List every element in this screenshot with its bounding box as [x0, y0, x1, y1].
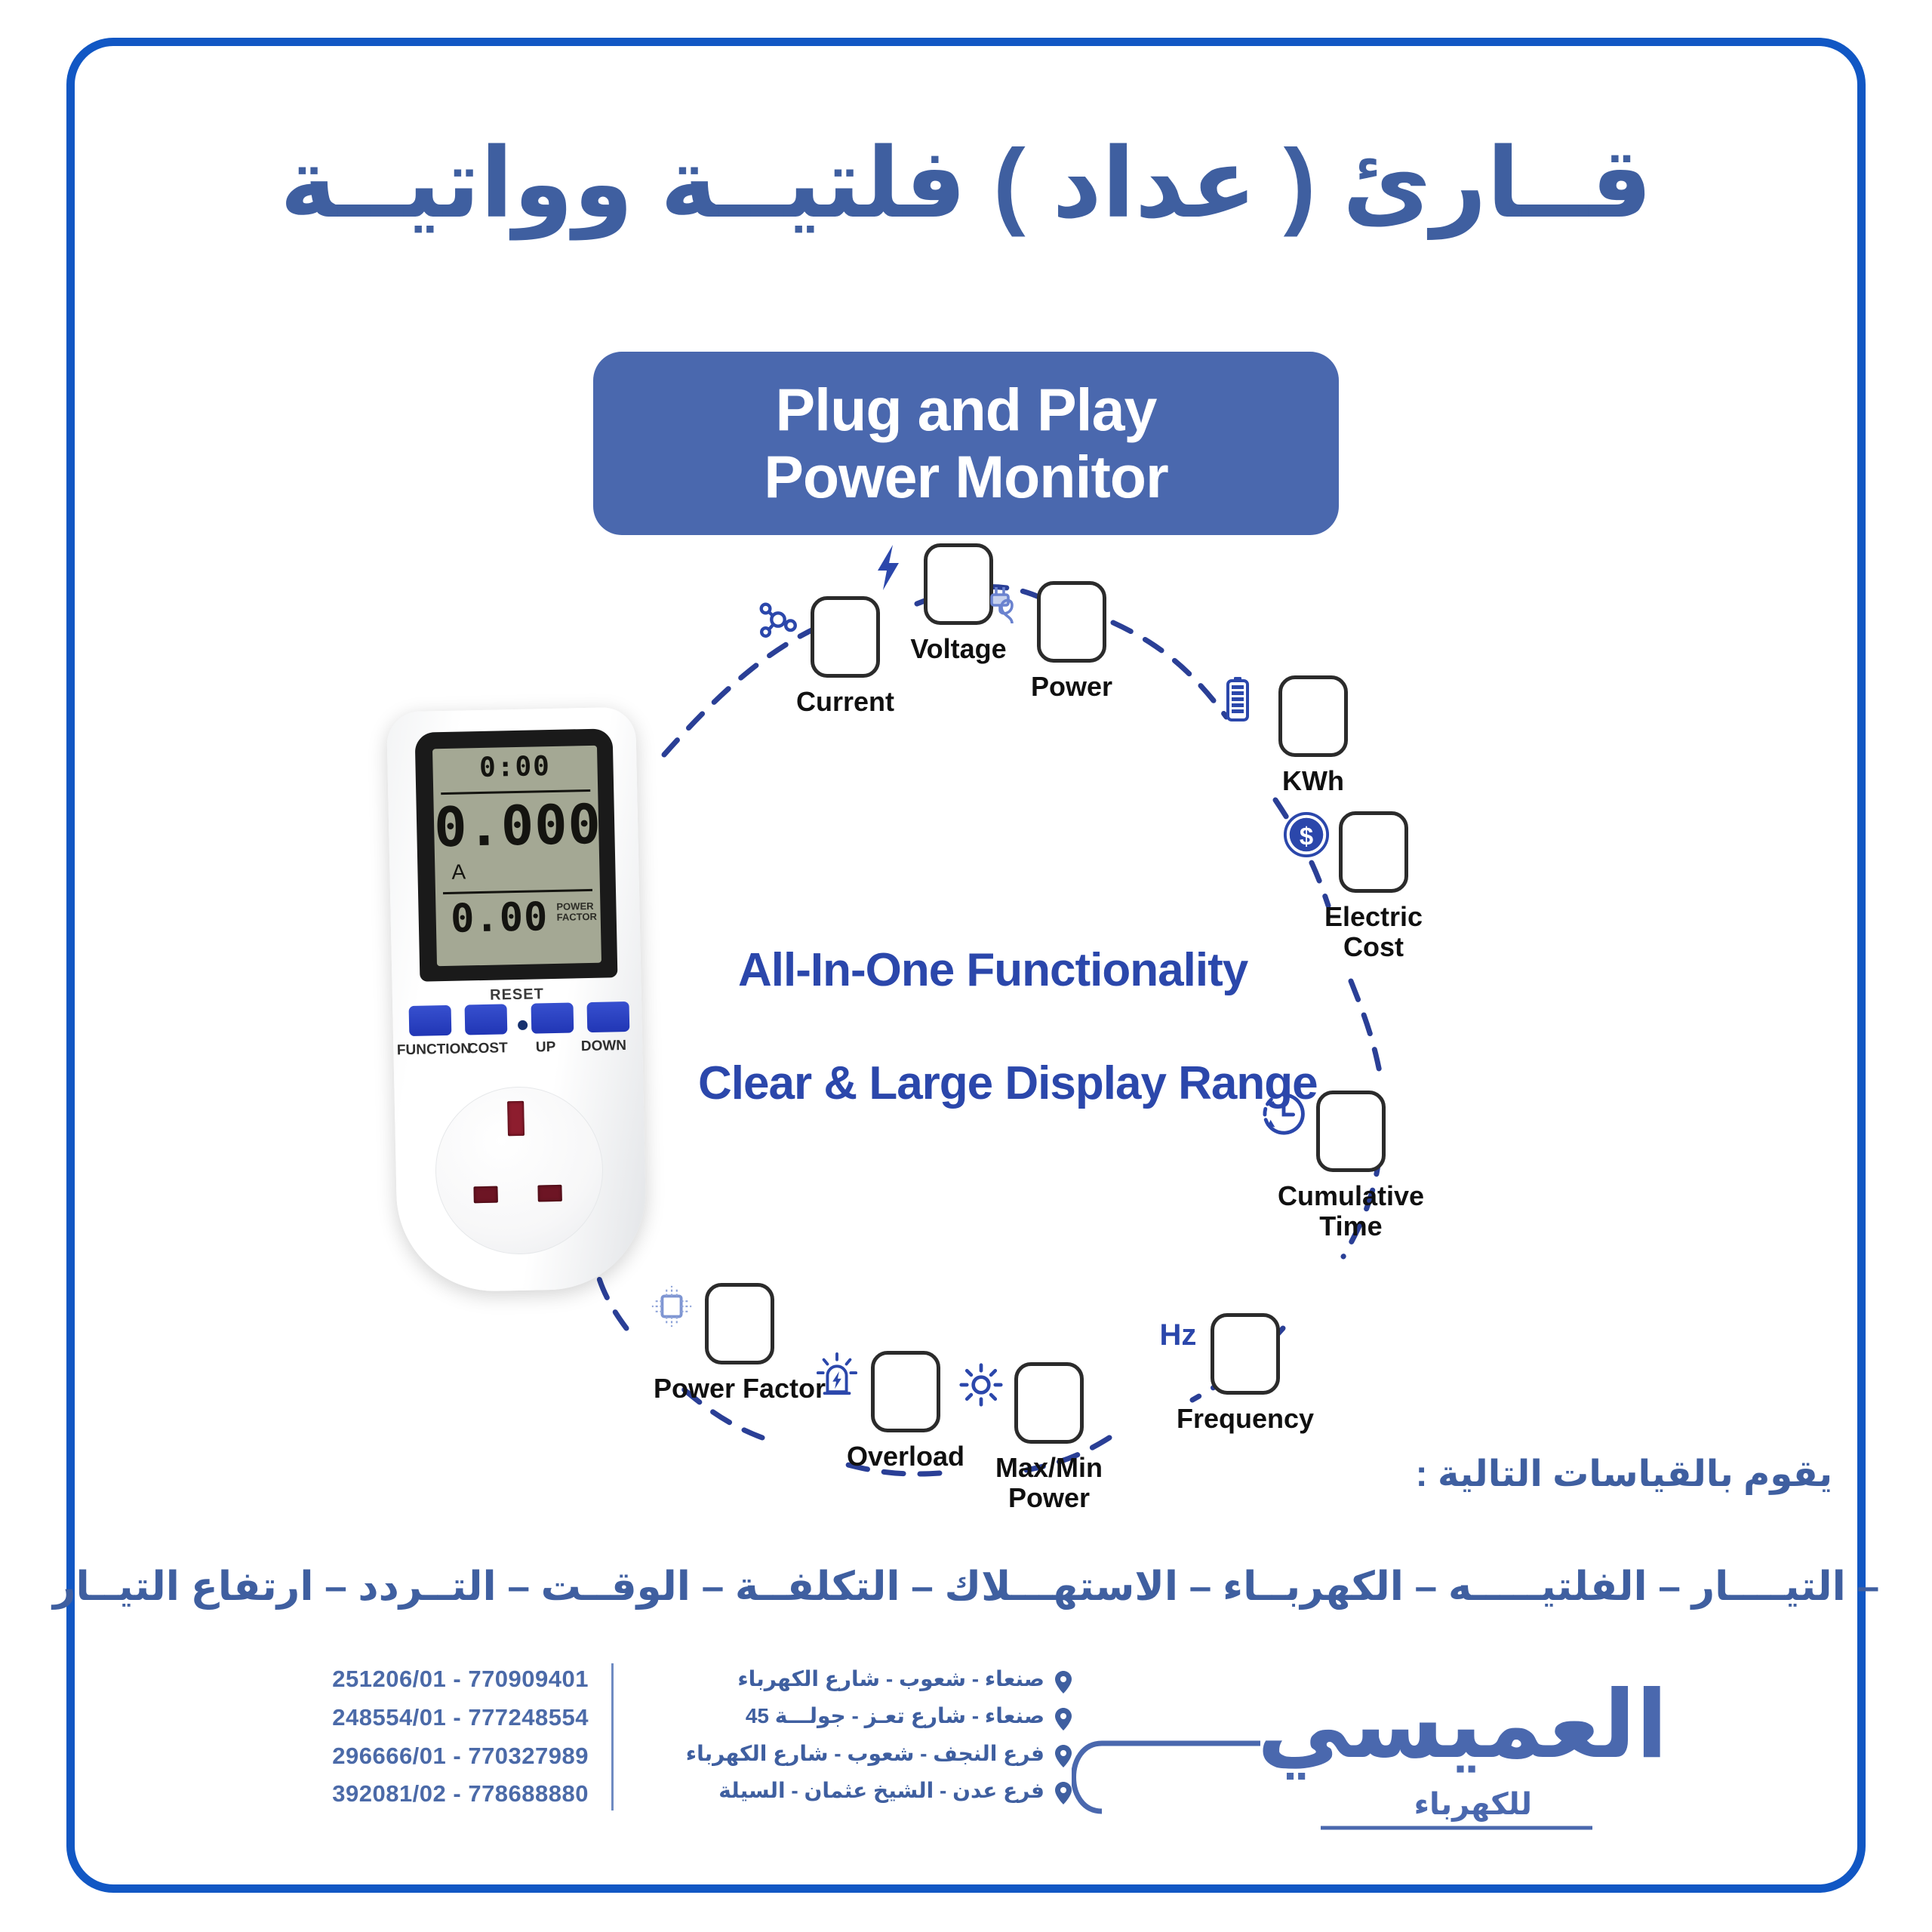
address-row: صنعاء - شعوب - شارع الكهرباء [626, 1660, 1072, 1697]
slogan-all-in-one: All-In-One Functionality [738, 943, 1247, 997]
up-button[interactable] [531, 1002, 574, 1033]
address-list: صنعاء - شعوب - شارع الكهرباء صنعاء - شار… [626, 1660, 1072, 1809]
phone-row[interactable]: 251206/01 - 770909401 [332, 1660, 589, 1699]
measurements-heading: يقوم بالقياسات التالية : [1416, 1453, 1832, 1495]
socket-earth-pin [507, 1101, 525, 1136]
pf-line-2: FACTOR [557, 911, 596, 922]
down-button[interactable] [586, 1001, 629, 1032]
measurements-list: – التيــــار – الفلتيـــــه – الكهربــاء… [0, 1564, 1932, 1610]
down-button-label: DOWN [581, 1038, 627, 1055]
device-button-row [406, 1001, 633, 1041]
socket-live-pin [473, 1186, 497, 1204]
function-button[interactable] [409, 1005, 452, 1036]
phone-row[interactable]: 392081/02 - 778688880 [332, 1775, 589, 1814]
phone-list: 251206/01 - 770909401 248554/01 - 777248… [332, 1660, 589, 1814]
lcd-power-factor-label: POWER FACTOR [556, 901, 596, 922]
address-text: فرع النجف - شعوب - شارع الكهرباء [686, 1735, 1044, 1772]
address-row: فرع عدن - الشيخ عثمان - السيلة [626, 1772, 1072, 1809]
address-text: فرع عدن - الشيخ عثمان - السيلة [718, 1772, 1044, 1809]
power-monitor-device: 0:00 0.000 A 0.00 POWER FACTOR RESET FUN… [392, 709, 687, 1336]
logo-tagline: للكهرباء [1414, 1787, 1532, 1822]
cost-button-label: COST [468, 1040, 508, 1057]
location-pin-icon [1055, 1668, 1072, 1690]
up-button-label: UP [536, 1039, 556, 1057]
address-text: صنعاء - شعوب - شارع الكهرباء [737, 1660, 1044, 1697]
slogan-display-range: Clear & Large Display Range [698, 1057, 1318, 1110]
phone-row[interactable]: 248554/01 - 777248554 [332, 1699, 589, 1737]
lcd-main-value: 0.000 [433, 792, 596, 859]
cost-button[interactable] [465, 1004, 508, 1035]
product-badge: Plug and Play Power Monitor [593, 352, 1339, 535]
lcd-screen: 0:00 0.000 A 0.00 POWER FACTOR [432, 746, 601, 967]
address-row: فرع النجف - شعوب - شارع الكهرباء [626, 1735, 1072, 1772]
location-pin-icon [1055, 1779, 1072, 1801]
location-pin-icon [1055, 1742, 1072, 1764]
lcd-top-value: 0:00 [432, 750, 598, 785]
lcd-unit: A [451, 860, 466, 884]
badge-line-2: Power Monitor [764, 444, 1168, 510]
reset-pinhole[interactable] [518, 1020, 528, 1030]
lcd-divider-bottom [443, 889, 592, 894]
function-button-label: FUNCTION [397, 1041, 472, 1059]
footer-divider [611, 1663, 614, 1810]
socket-neutral-pin [537, 1185, 561, 1202]
location-pin-icon [1055, 1705, 1072, 1727]
page-title: قــارئ ( عداد ) فلتيــة وواتيــة [0, 136, 1932, 232]
lcd-bottom-value: 0.00 [432, 894, 571, 943]
address-row: صنعاء - شارع تعـز - جولـــة 45 [626, 1697, 1072, 1734]
address-text: صنعاء - شارع تعـز - جولـــة 45 [746, 1697, 1044, 1734]
logo-name: العميسي [1257, 1678, 1668, 1772]
phone-row[interactable]: 296666/01 - 770327989 [332, 1737, 589, 1776]
company-logo: العميسي للكهرباء [1072, 1653, 1675, 1879]
badge-line-1: Plug and Play [775, 377, 1156, 443]
footer: 251206/01 - 770909401 248554/01 - 777248… [98, 1660, 1834, 1879]
